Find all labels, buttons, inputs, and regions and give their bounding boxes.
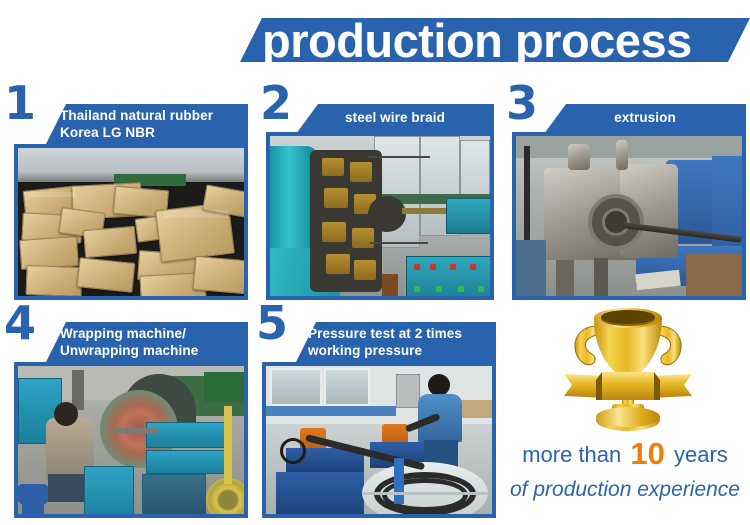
step-photo-4 — [14, 362, 248, 518]
experience-years-number: 10 — [627, 436, 667, 471]
step-number-2: 2 — [260, 80, 292, 126]
trophy-icon — [550, 302, 706, 432]
experience-prefix: more than — [522, 442, 621, 467]
step-panel-2: 2 steel wire braid — [256, 88, 494, 300]
photo-extrusion — [516, 136, 742, 296]
experience-subtitle: of production experience — [500, 478, 750, 502]
step-photo-3 — [512, 132, 746, 300]
step-label-1-line-1: Thailand natural rubber — [60, 107, 248, 124]
experience-suffix: years — [674, 442, 728, 467]
photo-wrapping-machine — [18, 366, 244, 514]
photo-steel-wire-braid — [270, 136, 490, 296]
photo-rubber-bales — [18, 148, 244, 296]
step-photo-1 — [14, 144, 248, 300]
step-label-1: Thailand natural rubber Korea LG NBR — [44, 104, 248, 148]
step-label-5-line-2: working pressure — [308, 342, 496, 359]
step-label-3-line-1: extrusion — [544, 109, 746, 126]
step-label-3: extrusion — [544, 104, 746, 134]
experience-badge: more than 10 years of production experie… — [500, 300, 750, 525]
step-label-1-line-2: Korea LG NBR — [60, 124, 248, 141]
step-number-5: 5 — [256, 300, 288, 346]
step-label-2-line-1: steel wire braid — [296, 109, 494, 126]
step-label-4-line-2: Unwrapping machine — [60, 342, 248, 359]
step-photo-5 — [262, 362, 496, 518]
step-panel-5: 5 Pressure test at 2 times working press… — [252, 308, 496, 520]
step-panel-4: 4 Wrapping machine/ Unwrapping machine — [0, 308, 248, 520]
step-number-4: 4 — [4, 300, 36, 346]
production-process-infographic: production process 1 Thailand natural ru… — [0, 0, 750, 525]
step-label-2: steel wire braid — [296, 104, 494, 134]
step-panel-1: 1 Thailand natural rubber Korea LG NBR — [0, 88, 248, 300]
step-label-5: Pressure test at 2 times working pressur… — [294, 322, 496, 366]
step-number-3: 3 — [506, 80, 538, 126]
step-label-5-line-1: Pressure test at 2 times — [308, 325, 496, 342]
page-title: production process — [262, 10, 750, 76]
step-panel-3: 3 extrusion — [502, 88, 746, 300]
step-number-1: 1 — [4, 80, 36, 126]
photo-pressure-test — [266, 366, 492, 514]
step-label-4: Wrapping machine/ Unwrapping machine — [44, 322, 248, 366]
step-label-4-line-1: Wrapping machine/ — [60, 325, 248, 342]
step-photo-2 — [266, 132, 494, 300]
experience-headline: more than 10 years — [500, 436, 750, 472]
